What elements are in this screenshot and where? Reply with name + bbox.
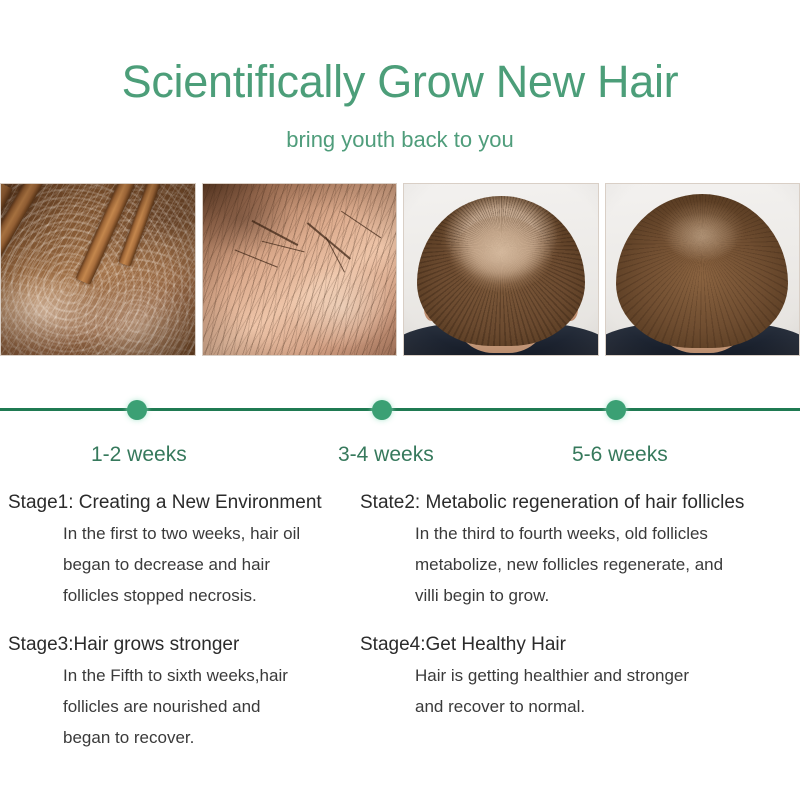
timeline-label-1: 1-2 weeks bbox=[91, 442, 187, 468]
stage-1-line-1: In the first to two weeks, hair oil bbox=[63, 518, 360, 549]
stage-2-body: In the third to fourth weeks, old follic… bbox=[360, 518, 800, 611]
stage-3-heading: Stage3:Hair grows stronger bbox=[8, 630, 360, 660]
scalp-before-treatment-photo bbox=[403, 183, 599, 356]
stage-1-line-2: began to decrease and hair bbox=[63, 549, 360, 580]
timeline-axis-line bbox=[0, 408, 800, 411]
timeline-label-2: 3-4 weeks bbox=[338, 442, 434, 468]
stage-2-heading: State2: Metabolic regeneration of hair f… bbox=[360, 488, 800, 518]
timeline-label-3: 5-6 weeks bbox=[572, 442, 668, 468]
scalp-after-treatment-photo bbox=[605, 183, 800, 356]
page-subtitle: bring youth back to you bbox=[0, 126, 800, 154]
scalp-follicle-microscope-photo bbox=[0, 183, 196, 356]
stage-1-line-3: follicles stopped necrosis. bbox=[63, 580, 360, 611]
treatment-timeline bbox=[0, 400, 800, 420]
stage-3-body: In the Fifth to sixth weeks,hair follicl… bbox=[8, 660, 360, 753]
stage-descriptions: Stage1: Creating a New Environment In th… bbox=[0, 488, 800, 800]
stage-2-line-2: metabolize, new follicles regenerate, an… bbox=[415, 549, 800, 580]
stage-3-line-2: follicles are nourished and bbox=[63, 691, 360, 722]
timeline-milestone-dot-3 bbox=[606, 400, 626, 420]
stage-2-line-1: In the third to fourth weeks, old follic… bbox=[415, 518, 800, 549]
stage-block-2: State2: Metabolic regeneration of hair f… bbox=[360, 488, 800, 611]
page-title: Scientifically Grow New Hair bbox=[0, 56, 800, 108]
stage-3-line-1: In the Fifth to sixth weeks,hair bbox=[63, 660, 360, 691]
stage-4-body: Hair is getting healthier and stronger a… bbox=[360, 660, 800, 722]
stage-4-heading: Stage4:Get Healthy Hair bbox=[360, 630, 800, 660]
stage-4-line-1: Hair is getting healthier and stronger bbox=[415, 660, 800, 691]
stage-block-3: Stage3:Hair grows stronger In the Fifth … bbox=[8, 630, 360, 753]
stage-block-4: Stage4:Get Healthy Hair Hair is getting … bbox=[360, 630, 800, 722]
stage-1-heading: Stage1: Creating a New Environment bbox=[8, 488, 360, 518]
promo-infographic: Scientifically Grow New Hair bring youth… bbox=[0, 0, 800, 800]
stage-3-line-3: began to recover. bbox=[63, 722, 360, 753]
timeline-milestone-dot-1 bbox=[127, 400, 147, 420]
stage-1-body: In the first to two weeks, hair oil bega… bbox=[8, 518, 360, 611]
stage-4-line-2: and recover to normal. bbox=[415, 691, 800, 722]
photo-gallery bbox=[0, 183, 800, 356]
skin-new-hair-growth-photo bbox=[202, 183, 398, 356]
stage-block-1: Stage1: Creating a New Environment In th… bbox=[8, 488, 360, 611]
timeline-milestone-dot-2 bbox=[372, 400, 392, 420]
timeline-labels: 1-2 weeks 3-4 weeks 5-6 weeks bbox=[0, 442, 800, 472]
stage-2-line-3: villi begin to grow. bbox=[415, 580, 800, 611]
